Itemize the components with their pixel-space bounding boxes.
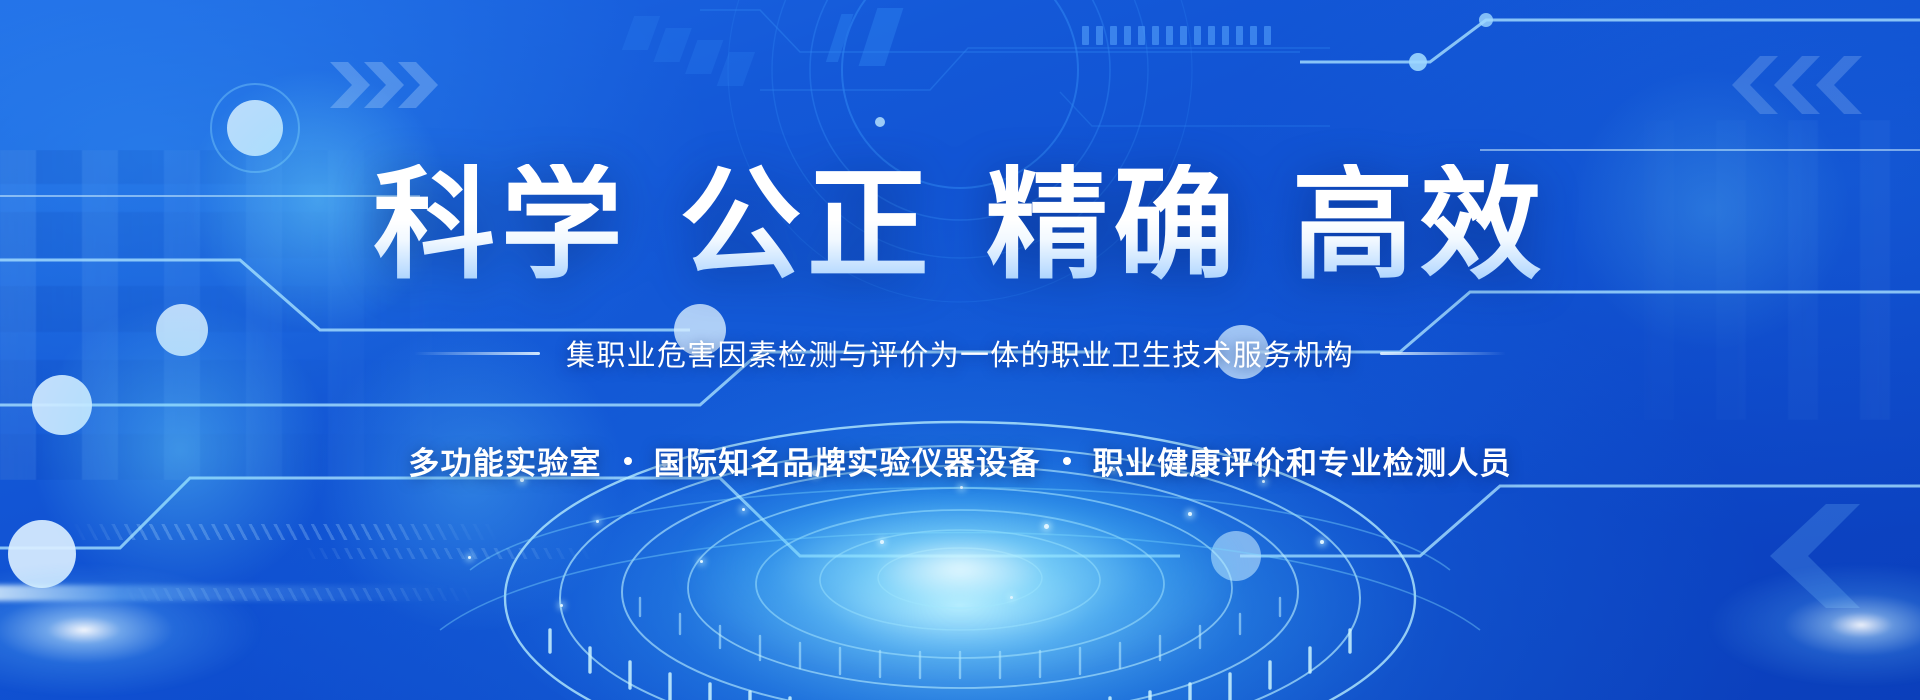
headline-word-3: 精确: [986, 157, 1241, 293]
divider-line-left: [414, 352, 540, 355]
hero-banner: 科学公正精确高效 集职业危害因素检测与评价为一体的职业卫生技术服务机构 多功能实…: [0, 0, 1920, 700]
tagline-item-2: 国际知名品牌实验仪器设备: [654, 438, 1041, 483]
banner-content: 科学公正精确高效 集职业危害因素检测与评价为一体的职业卫生技术服务机构 多功能实…: [0, 0, 1920, 700]
page-title: 科学公正精确高效: [373, 164, 1547, 286]
tagline-item-3: 职业健康评价和专业检测人员: [1093, 438, 1512, 483]
tagline-row: 多功能实验室 国际知名品牌实验仪器设备 职业健康评价和专业检测人员: [408, 438, 1511, 483]
tagline-item-1: 多功能实验室: [408, 438, 601, 483]
headline-word-1: 科学: [373, 157, 628, 293]
subtitle: 集职业危害因素检测与评价为一体的职业卫生技术服务机构: [566, 332, 1354, 374]
subtitle-row: 集职业危害因素检测与评价为一体的职业卫生技术服务机构: [414, 332, 1506, 374]
headline-word-2: 公正: [679, 157, 934, 293]
bullet-separator-icon: [624, 457, 632, 465]
headline-word-4: 高效: [1292, 157, 1547, 293]
bullet-separator-icon: [1063, 457, 1071, 465]
divider-line-right: [1380, 352, 1506, 355]
